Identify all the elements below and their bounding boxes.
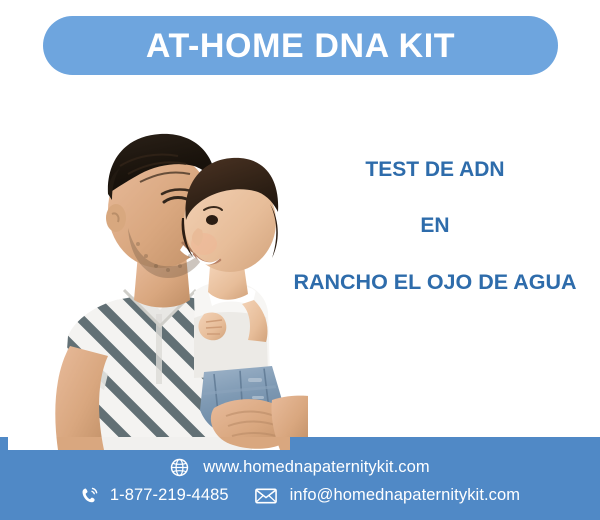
contact-email[interactable]: info@homednapaternitykit.com: [255, 486, 521, 505]
footer-contact-row: 1-877-219-4485 info@homednapaternitykit.…: [0, 486, 600, 505]
headline-line-2: EN: [270, 214, 600, 238]
phone-text: 1-877-219-4485: [110, 486, 229, 505]
headline-line-3: RANCHO EL OJO DE AGUA: [270, 270, 600, 295]
phone-icon: [80, 486, 99, 505]
envelope-icon: [255, 488, 277, 504]
email-text: info@homednapaternitykit.com: [290, 486, 521, 505]
globe-icon: [170, 458, 189, 477]
father-and-child-illustration: [8, 78, 308, 450]
poster-canvas: AT-HOME DNA KIT: [0, 0, 600, 520]
headline-line-1: TEST DE ADN: [270, 158, 600, 182]
contact-phone[interactable]: 1-877-219-4485: [80, 486, 229, 505]
photo-overlap-fragment: [8, 437, 290, 450]
photo-footer-overlap: [8, 437, 290, 450]
contact-website[interactable]: www.homednapaternitykit.com: [170, 458, 429, 477]
website-text: www.homednapaternitykit.com: [203, 458, 429, 477]
header-banner-pill: AT-HOME DNA KIT: [43, 16, 558, 75]
page-title: AT-HOME DNA KIT: [146, 29, 455, 63]
headline-block: TEST DE ADN EN RANCHO EL OJO DE AGUA: [270, 158, 600, 295]
father-and-child-photo: [8, 78, 308, 450]
footer-website-row: www.homednapaternitykit.com: [0, 458, 600, 477]
